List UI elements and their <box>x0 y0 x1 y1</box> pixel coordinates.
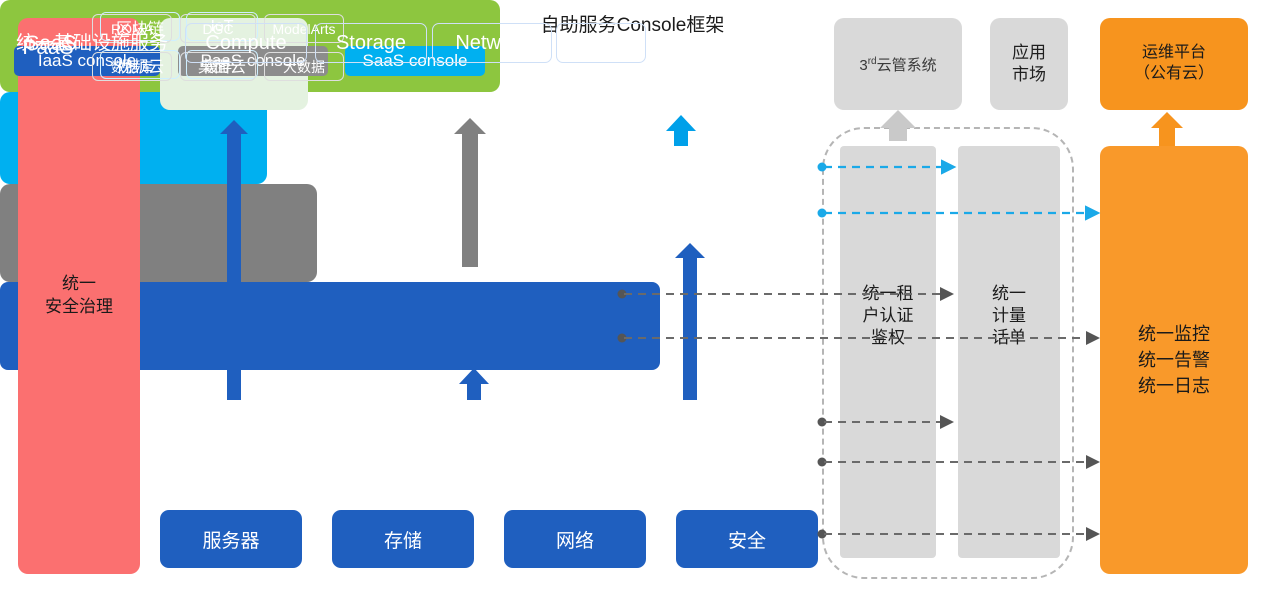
app-market-line-1: 应用 <box>1012 42 1046 64</box>
metering-line-1: 统一 <box>958 283 1060 305</box>
ops-platform-line-2: （公有云） <box>1134 64 1214 85</box>
hardware-box-network[interactable]: 网络 <box>504 510 646 568</box>
infra-chip-network[interactable]: Network <box>432 23 552 63</box>
metering-label: 统一 计量 话单 <box>958 283 1060 349</box>
security-line-2: 安全治理 <box>45 296 113 319</box>
security-line-1: 统一 <box>45 273 113 296</box>
metering-line-2: 计量 <box>958 305 1060 327</box>
third-party-sup: rd <box>868 56 877 67</box>
ops-platform-box: 运维平台 （公有云） <box>1100 18 1248 110</box>
unified-security-governance-panel: 统一 安全治理 <box>18 18 140 574</box>
ops-body-line-3: 统一日志 <box>1138 373 1210 399</box>
cyan-arrow-to-console <box>666 115 696 146</box>
hardware-box-security[interactable]: 安全 <box>676 510 818 568</box>
architecture-diagram: 统一 安全治理 API网关 自助服务Console框架 IaaS console… <box>0 0 1265 605</box>
metering-column <box>958 146 1060 558</box>
ops-platform-line-1: 运维平台 <box>1134 43 1214 64</box>
third-party-label: 云管系统 <box>877 57 937 74</box>
blue-arrow-infra-to-paas <box>459 368 489 400</box>
orange-arrow-to-ops-platform <box>1151 112 1183 146</box>
tenant-auth-line-2: 户认证 <box>840 305 936 327</box>
hardware-box-storage[interactable]: 存储 <box>332 510 474 568</box>
tenant-auth-label: 统一租 户认证 鉴权 <box>840 283 936 349</box>
tenant-auth-column <box>840 146 936 558</box>
ops-body-line-2: 统一告警 <box>1138 347 1210 373</box>
infra-chip-storage[interactable]: Storage <box>315 23 427 63</box>
paas-chip-database[interactable]: 数据库 <box>92 52 172 81</box>
gray-arrow-to-console <box>454 118 486 267</box>
unified-monitoring-panel: 统一监控 统一告警 统一日志 <box>1100 146 1248 574</box>
tenant-auth-line-1: 统一租 <box>840 283 936 305</box>
ops-body-line-1: 统一监控 <box>1138 321 1210 347</box>
metering-line-3: 话单 <box>958 327 1060 349</box>
third-party-prefix: 3 <box>859 57 867 74</box>
blue-arrow-saas-to-console <box>675 243 705 400</box>
infra-chip-cce[interactable]: CCE <box>556 23 646 63</box>
third-party-cloud-management-box: 3rd云管系统 <box>834 18 962 110</box>
infra-label: 统一基础设施服务 <box>16 28 168 55</box>
app-market-line-2: 市场 <box>1012 64 1046 86</box>
hardware-box-server[interactable]: 服务器 <box>160 510 302 568</box>
tenant-auth-line-3: 鉴权 <box>840 327 936 349</box>
infra-chip-compute[interactable]: Compute <box>185 23 307 63</box>
app-market-box: 应用 市场 <box>990 18 1068 110</box>
